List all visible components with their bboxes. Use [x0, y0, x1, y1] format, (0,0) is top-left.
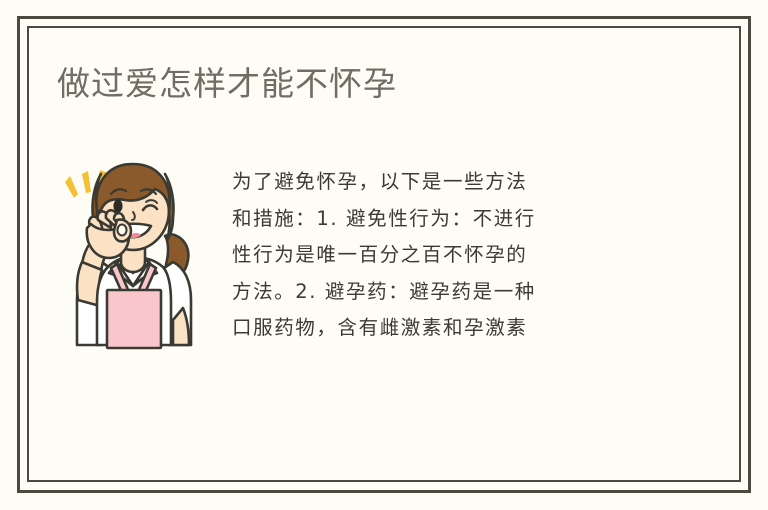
- body-line: 性行为是唯一百分之百不怀孕的: [232, 237, 667, 274]
- body-line: 口服药物，含有雌激素和孕激素: [232, 310, 667, 347]
- body-line: 为了避免怀孕，以下是一些方法: [232, 164, 667, 201]
- illustration-winking-woman-ok-gesture: [57, 140, 209, 355]
- article-card: 做过爱怎样才能不怀孕: [0, 0, 768, 510]
- body-line: 和措施：1. 避免性行为：不进行: [232, 201, 667, 238]
- body-line: 方法。2. 避孕药：避孕药是一种: [232, 274, 667, 311]
- page-title: 做过爱怎样才能不怀孕: [57, 62, 397, 106]
- article-content: 为了避免怀孕，以下是一些方法 和措施：1. 避免性行为：不进行 性行为是唯一百分…: [57, 140, 707, 390]
- article-body: 为了避免怀孕，以下是一些方法 和措施：1. 避免性行为：不进行 性行为是唯一百分…: [232, 164, 667, 347]
